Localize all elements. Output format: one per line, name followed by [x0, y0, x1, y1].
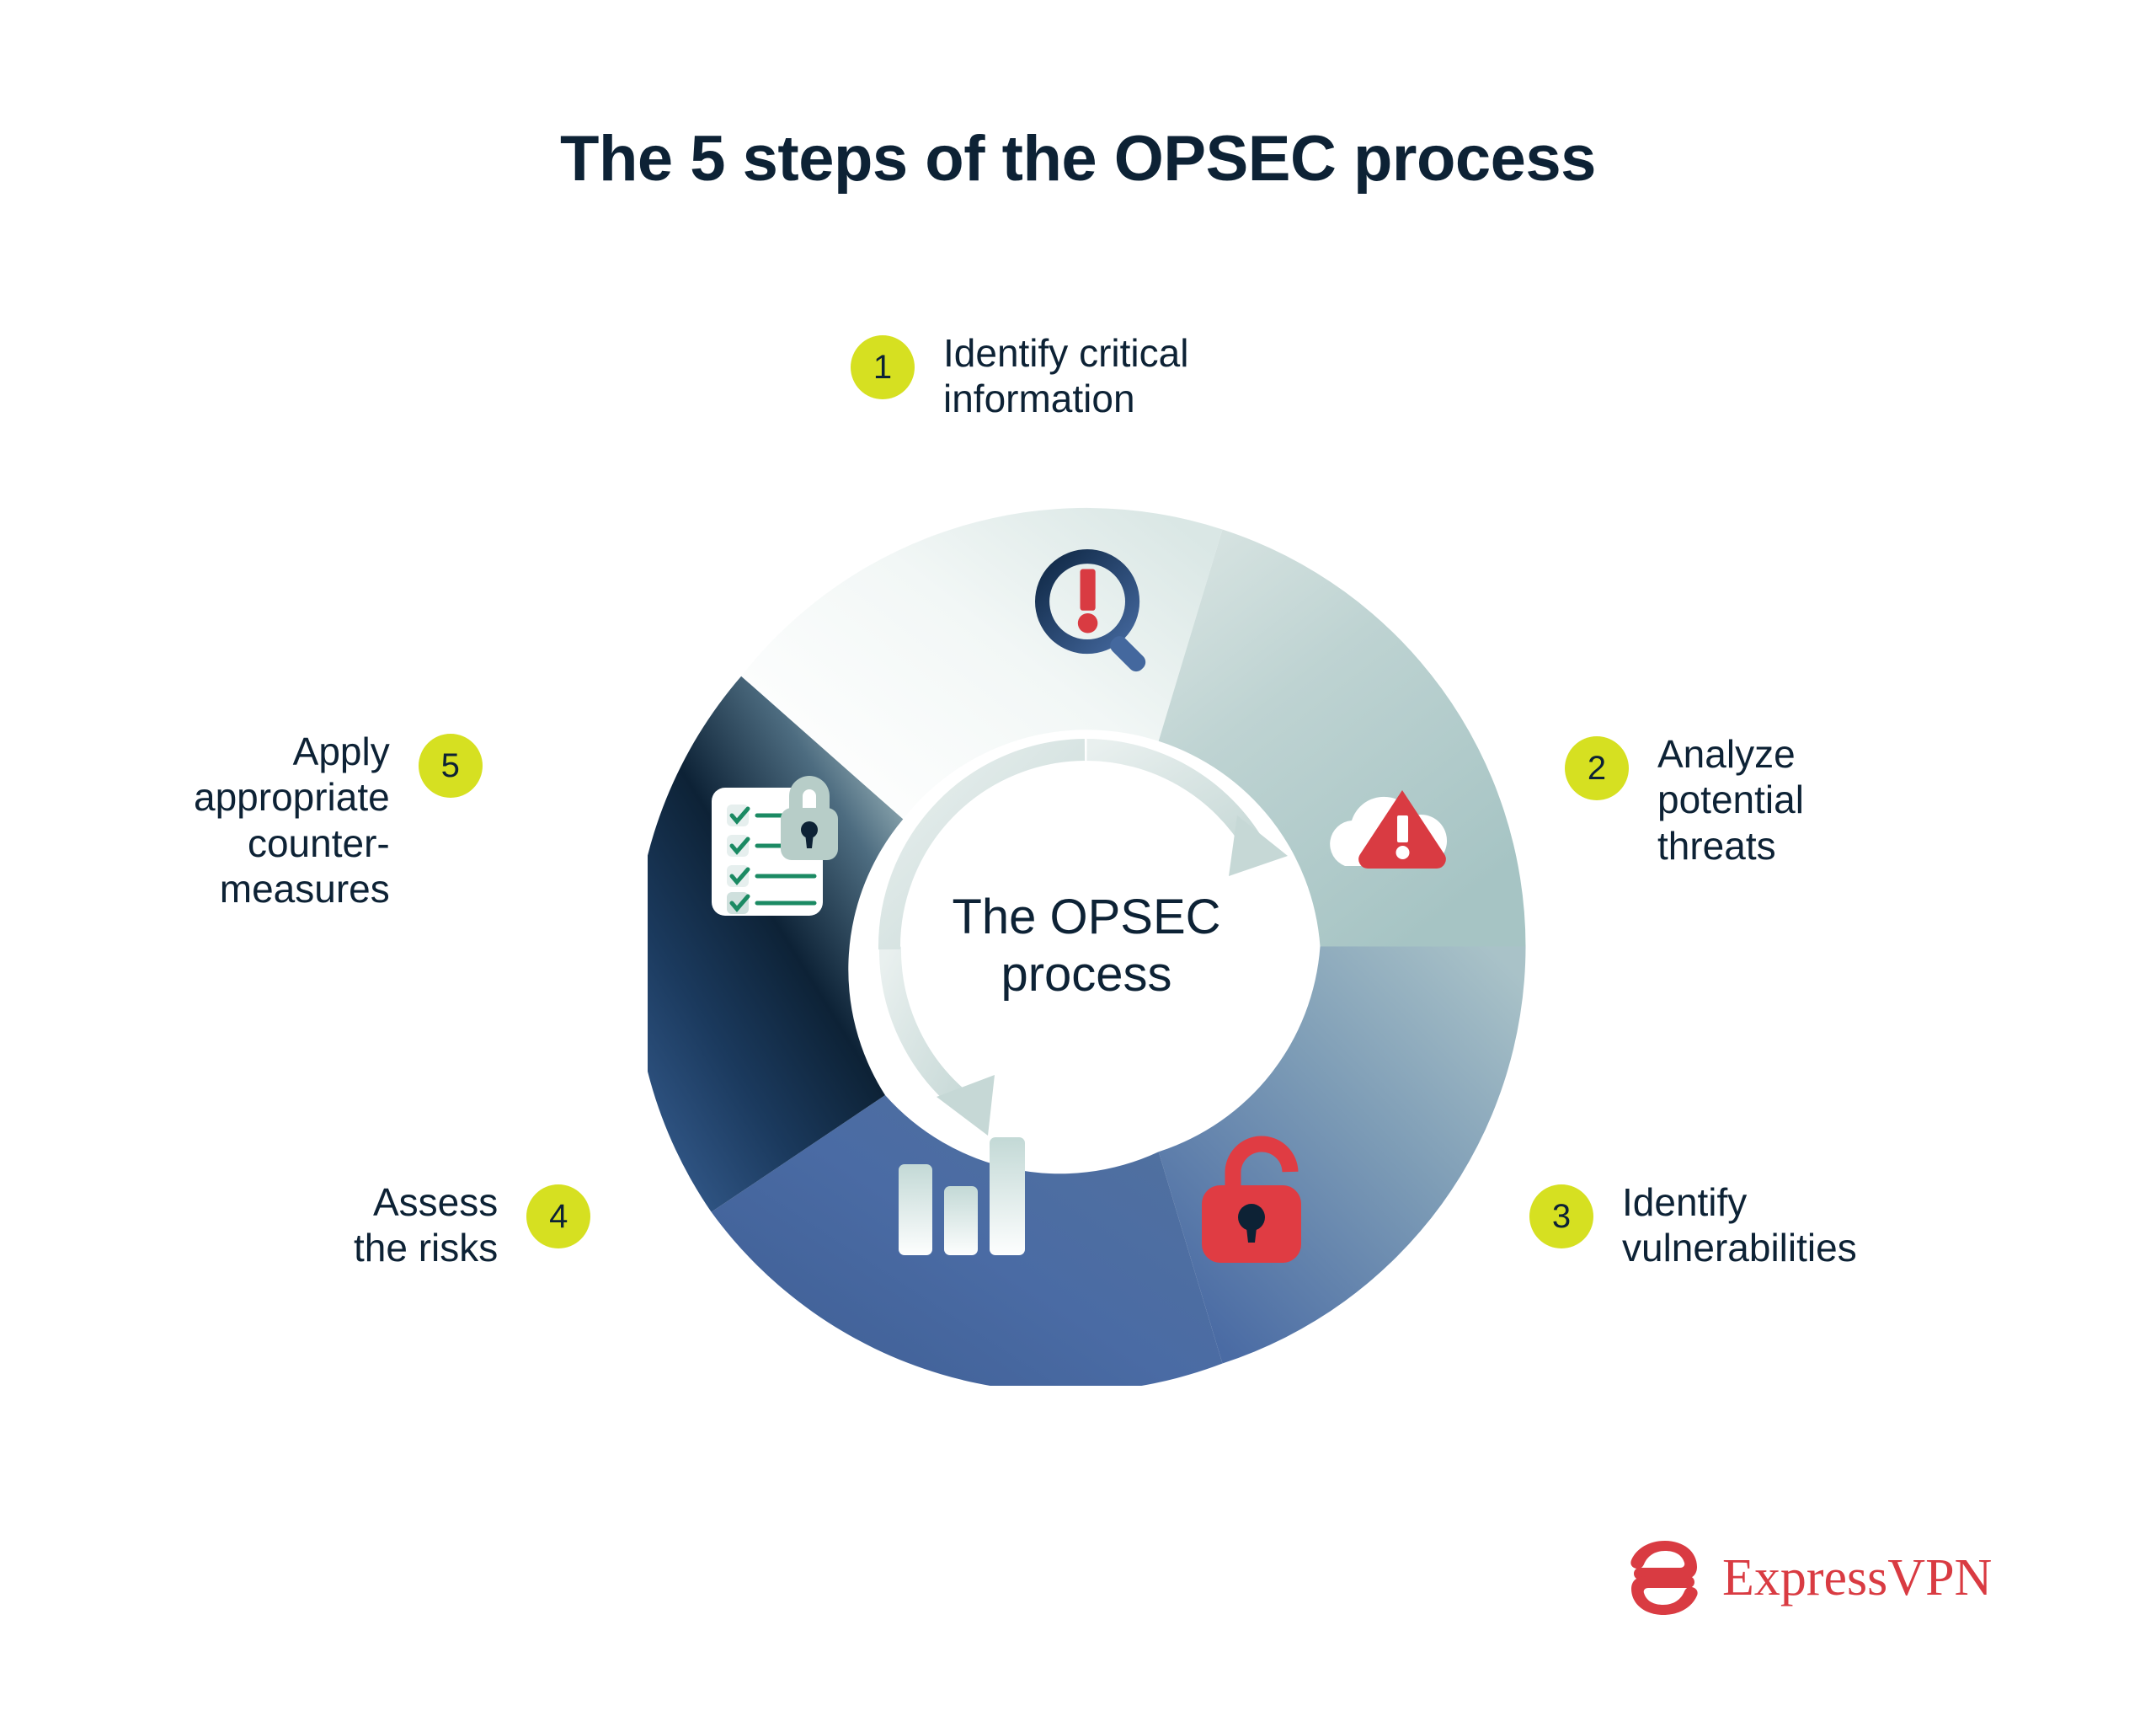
- step-label-3: Identify vulnerabilities: [1622, 1179, 1857, 1271]
- step-label-2: Analyze potential threats: [1657, 731, 1804, 869]
- step-callout-4[interactable]: Assess the risks 4: [354, 1179, 590, 1271]
- step-callout-2[interactable]: 2 Analyze potential threats: [1565, 731, 1804, 869]
- step-badge-5: 5: [419, 734, 483, 798]
- opsec-process-wheel: [648, 507, 1526, 1386]
- step-label-1: Identify critical information: [943, 330, 1188, 422]
- checklist-padlock-icon: [712, 776, 838, 916]
- step-callout-1[interactable]: 1 Identify critical information: [851, 330, 1188, 422]
- step-badge-4: 4: [526, 1184, 590, 1248]
- step-callout-5[interactable]: Apply appropriate counter- measures 5: [194, 729, 483, 911]
- wheel-segment-2[interactable]: [1159, 530, 1526, 947]
- expressvpn-logo[interactable]: ExpressVPN: [1628, 1539, 1992, 1617]
- step-callout-3[interactable]: 3 Identify vulnerabilities: [1529, 1179, 1857, 1271]
- circular-arrows-icon: [889, 750, 1288, 1136]
- step-badge-2: 2: [1565, 736, 1629, 800]
- page-title: The 5 steps of the OPSEC process: [0, 122, 2156, 195]
- step-label-4: Assess the risks: [354, 1179, 498, 1271]
- step-badge-1: 1: [851, 335, 915, 399]
- step-label-5: Apply appropriate counter- measures: [194, 729, 390, 911]
- brand-name: ExpressVPN: [1722, 1552, 1992, 1604]
- wheel-segment-3[interactable]: [1159, 947, 1526, 1364]
- step-badge-3: 3: [1529, 1184, 1593, 1248]
- expressvpn-e-mark: [1628, 1539, 1700, 1617]
